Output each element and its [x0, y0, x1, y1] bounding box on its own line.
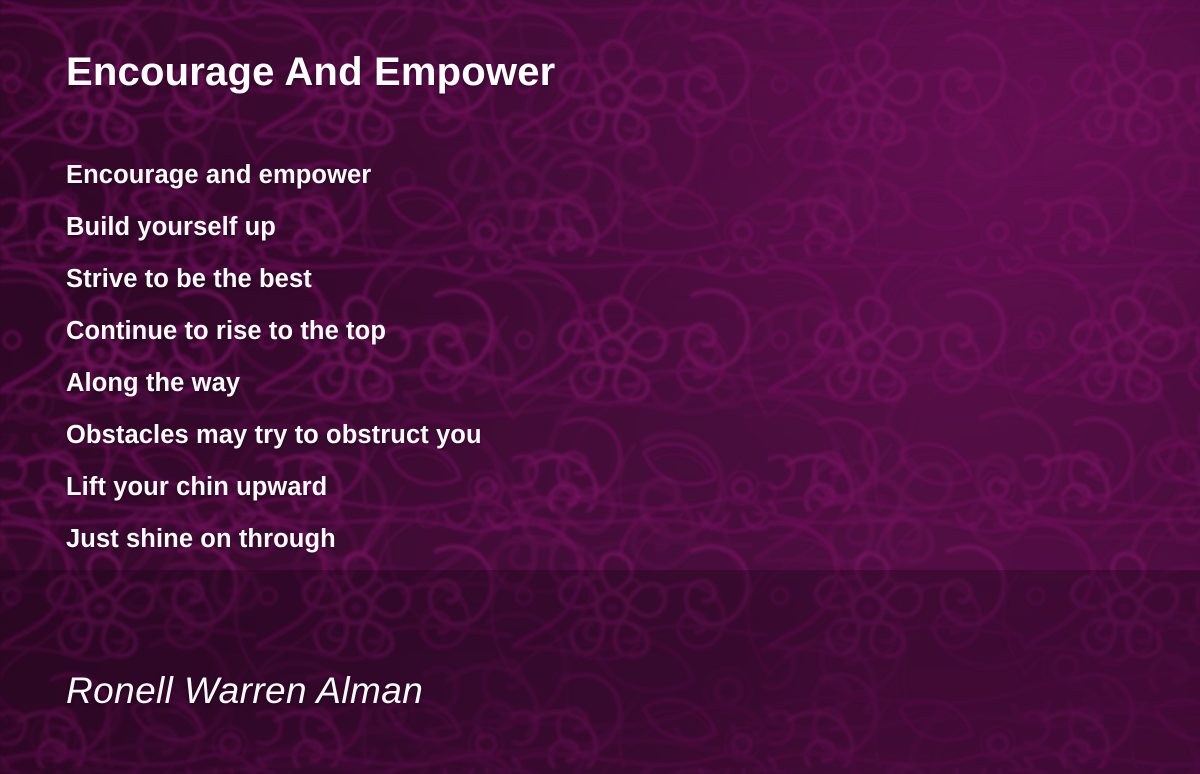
poem-line: Along the way — [66, 366, 482, 418]
poem-line: Continue to rise to the top — [66, 314, 482, 366]
poem-title: Encourage And Empower — [66, 52, 555, 92]
poem-line: Obstacles may try to obstruct you — [66, 418, 482, 470]
poem-line: Strive to be the best — [66, 262, 482, 314]
poem-author-name: Ronell Warren Alman — [66, 672, 423, 709]
poem-line: Encourage and empower — [66, 158, 482, 210]
poem-image-card: Encourage And Empower Encourage and empo… — [0, 0, 1200, 774]
poem-line: Build yourself up — [66, 210, 482, 262]
poem-line: Lift your chin upward — [66, 470, 482, 522]
poem-body: Encourage and empower Build yourself up … — [66, 158, 482, 574]
poem-content: Encourage And Empower Encourage and empo… — [0, 0, 1200, 774]
poem-line: Just shine on through — [66, 522, 482, 574]
